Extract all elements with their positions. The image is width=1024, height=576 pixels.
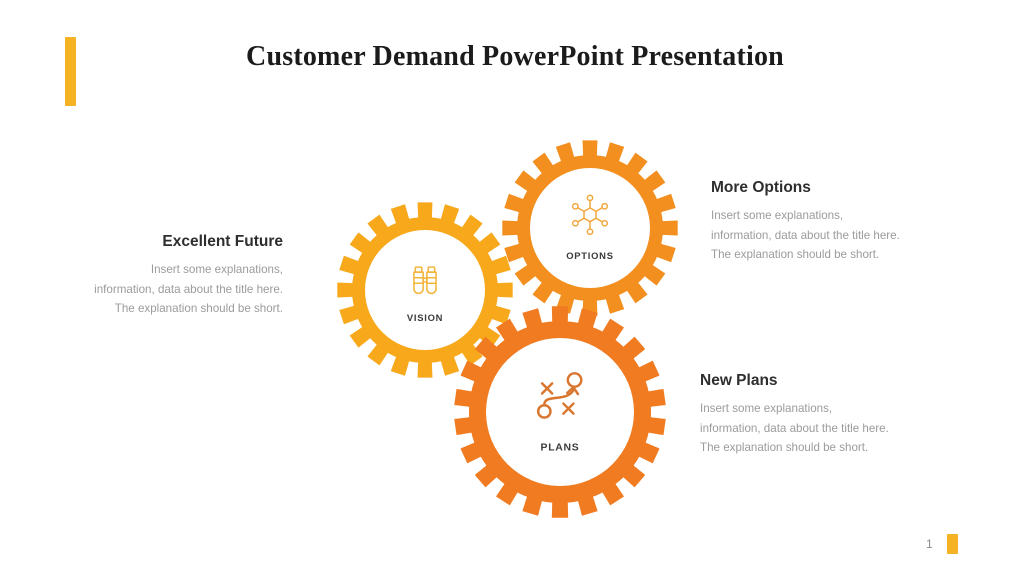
heading-new-plans: New Plans: [700, 371, 965, 390]
heading-excellent-future: Excellent Future: [30, 232, 283, 251]
text-block-more-options: More Options Insert some explanations, i…: [711, 178, 971, 265]
page-title: Customer Demand PowerPoint Presentation: [120, 40, 910, 74]
text-block-new-plans: New Plans Insert some explanations, info…: [700, 371, 965, 458]
text-block-excellent-future: Excellent Future Insert some explanation…: [30, 232, 283, 319]
gear-label-options: OPTIONS: [566, 250, 613, 261]
gear-hub-plans: [486, 338, 634, 486]
slide-canvas: Customer Demand PowerPoint Presentation …: [0, 0, 1024, 576]
page-number: 1: [926, 537, 933, 551]
body-more-options-line2: information, data about the title here.: [711, 226, 971, 246]
body-new-plans-line1: Insert some explanations,: [700, 399, 965, 419]
body-excellent-future-line2: information, data about the title here.: [30, 280, 283, 300]
body-new-plans-line3: The explanation should be short.: [700, 438, 965, 458]
body-more-options-line1: Insert some explanations,: [711, 206, 971, 226]
heading-more-options: More Options: [711, 178, 971, 197]
page-number-accent-bar: [947, 534, 958, 554]
body-new-plans-line2: information, data about the title here.: [700, 419, 965, 439]
gear-label-vision: VISION: [407, 312, 443, 323]
gear-hub-vision: [365, 230, 485, 350]
body-excellent-future-line1: Insert some explanations,: [30, 260, 283, 280]
gear-diagram-svg: VISIONOPTIONSPLANS: [330, 130, 690, 530]
gear-label-plans: PLANS: [541, 442, 580, 453]
gear-diagram: VISIONOPTIONSPLANS: [330, 130, 690, 520]
body-more-options-line3: The explanation should be short.: [711, 245, 971, 265]
gear-plans[interactable]: PLANS: [454, 306, 666, 517]
title-accent-bar: [65, 37, 76, 106]
body-excellent-future-line3: The explanation should be short.: [30, 299, 283, 319]
gear-options[interactable]: OPTIONS: [502, 140, 677, 315]
